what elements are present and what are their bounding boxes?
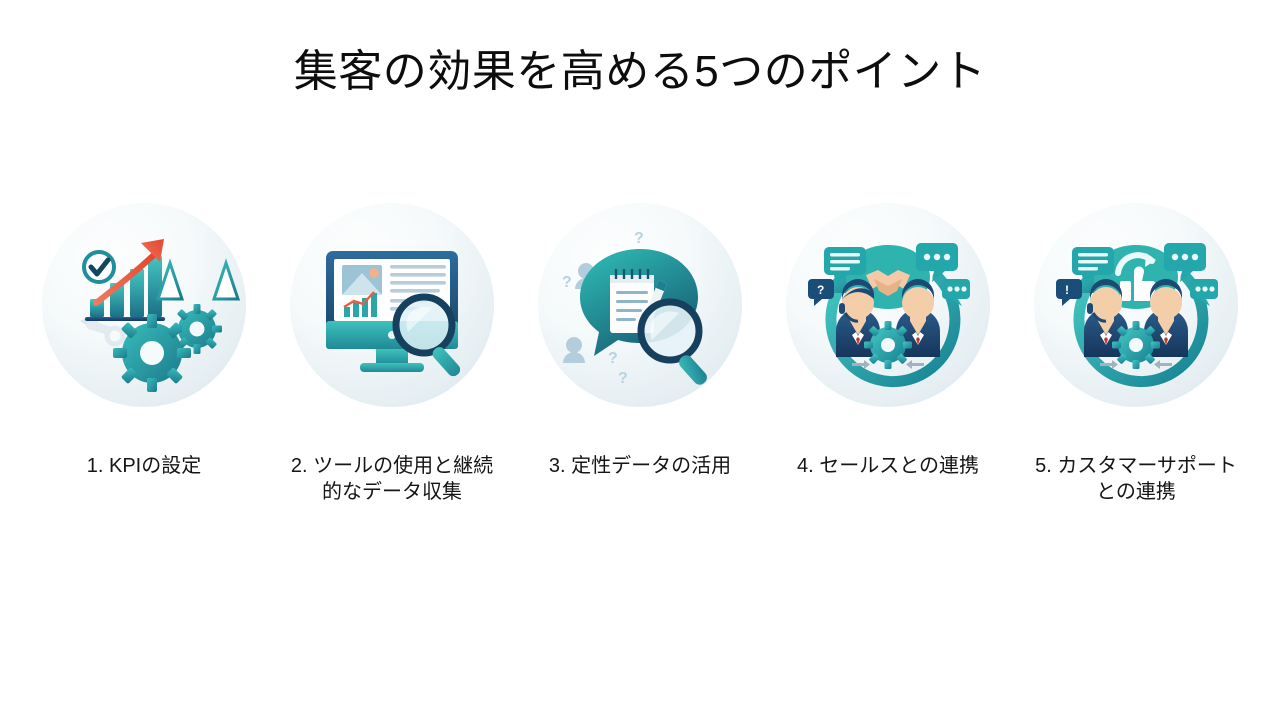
point-caption-4: 4. セールスとの連携: [778, 453, 998, 479]
point-icon-circle-2: [290, 203, 494, 407]
point-card-5[interactable]: !: [1034, 203, 1238, 505]
points-row: 1. KPIの設定: [0, 203, 1280, 505]
svg-text:?: ?: [562, 274, 572, 291]
kpi-goal-setting-icon: [42, 203, 246, 407]
qualitative-research-icon: ? ? ? ? ?: [538, 203, 742, 407]
analytics-dashboard-icon: [290, 203, 494, 407]
svg-text:?: ?: [618, 370, 628, 387]
chat-bubble-small-right: [1190, 279, 1218, 306]
gear-icon: [864, 321, 912, 369]
svg-text:!: !: [1065, 283, 1069, 297]
caption-line: との連携: [1018, 479, 1254, 505]
point-caption-1: 1. KPIの設定: [44, 453, 244, 479]
caption-line: 2. ツールの使用と継続: [274, 453, 510, 479]
gear-icon: [1112, 321, 1160, 369]
gear-large-icon: [113, 314, 191, 392]
svg-text:?: ?: [634, 230, 644, 247]
svg-text:?: ?: [608, 350, 618, 367]
point-card-2[interactable]: 2. ツールの使用と継続 的なデータ収集: [290, 203, 494, 505]
point-card-4[interactable]: ?: [786, 203, 990, 479]
customer-support-collaboration-icon: !: [1034, 203, 1238, 407]
point-caption-5: 5. カスタマーサポート との連携: [1018, 453, 1254, 505]
caption-line: 5. カスタマーサポート: [1018, 453, 1254, 479]
caption-line: 的なデータ収集: [274, 479, 510, 505]
svg-text:?: ?: [817, 283, 824, 297]
slide-canvas: 集客の効果を高める5つのポイント: [0, 0, 1280, 720]
point-caption-2: 2. ツールの使用と継続 的なデータ収集: [274, 453, 510, 505]
check-circle-icon: [84, 252, 114, 282]
sales-collaboration-icon: ?: [786, 203, 990, 407]
point-icon-circle-4: ?: [786, 203, 990, 407]
point-caption-3: 3. 定性データの活用: [530, 453, 750, 479]
caption-line: 1. KPIの設定: [44, 453, 244, 479]
point-card-1[interactable]: 1. KPIの設定: [42, 203, 246, 479]
bar-4: [148, 256, 162, 317]
page-title: 集客の効果を高める5つのポイント: [0, 46, 1280, 98]
magnifier-icon: [641, 302, 710, 387]
caption-line: 3. 定性データの活用: [530, 453, 750, 479]
dashboard-chart: [342, 265, 382, 317]
point-card-3[interactable]: ? ? ? ? ?: [538, 203, 742, 479]
caption-line: 4. セールスとの連携: [778, 453, 998, 479]
point-icon-circle-5: !: [1034, 203, 1238, 407]
point-icon-circle-3: ? ? ? ? ?: [538, 203, 742, 407]
point-icon-circle-1: [42, 203, 246, 407]
chat-bubble-small-right: [942, 279, 970, 306]
balance-scale-icon: [156, 261, 240, 307]
